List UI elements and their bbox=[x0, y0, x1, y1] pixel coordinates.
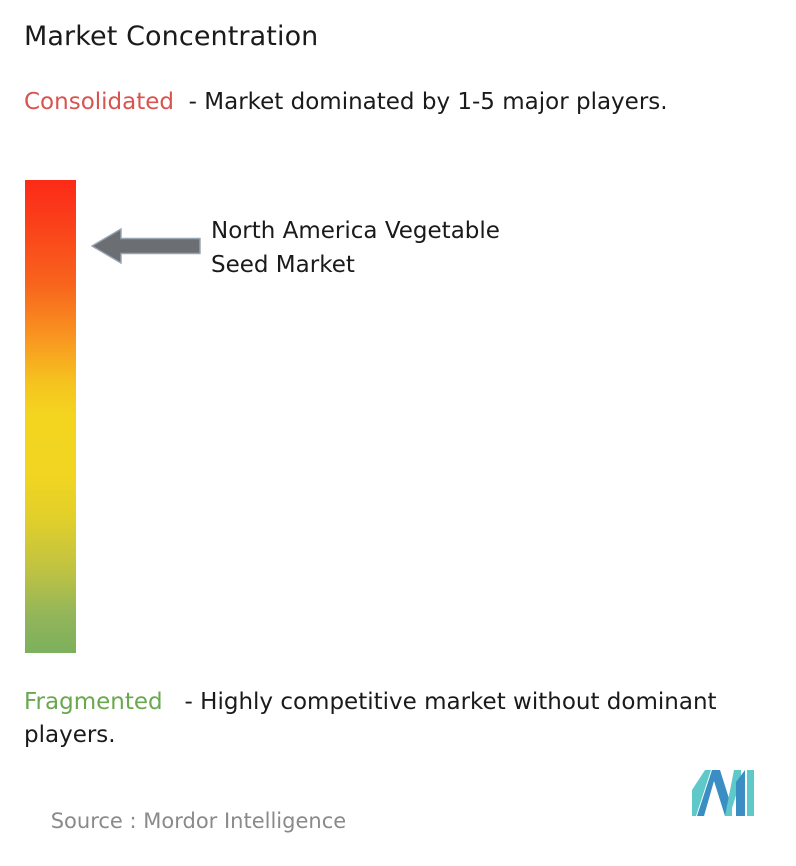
legend-separator-top: - bbox=[174, 89, 204, 115]
callout-arrow-icon bbox=[91, 226, 201, 266]
legend-term-fragmented: Fragmented bbox=[24, 689, 163, 715]
legend-separator-bottom: - bbox=[163, 689, 201, 715]
callout-label-line-1: North America Vegetable bbox=[211, 214, 631, 248]
concentration-gradient-bar bbox=[25, 180, 76, 653]
mordor-intelligence-logo bbox=[692, 764, 758, 816]
source-value: Mordor Intelligence bbox=[143, 809, 346, 833]
source-label: Source : bbox=[51, 809, 144, 833]
callout-label: North America Vegetable Seed Market bbox=[211, 214, 631, 282]
market-concentration-chart: Market Concentration Consolidated - Mark… bbox=[0, 0, 796, 834]
legend-term-consolidated: Consolidated bbox=[24, 89, 174, 115]
legend-fragmented: Fragmented - Highly competitive market w… bbox=[24, 686, 784, 752]
source-attribution: Source : Mordor Intelligence bbox=[24, 776, 346, 866]
page-title: Market Concentration bbox=[24, 20, 318, 54]
callout-label-line-2: Seed Market bbox=[211, 248, 631, 282]
legend-consolidated: Consolidated - Market dominated by 1-5 m… bbox=[24, 86, 764, 119]
legend-description-consolidated: Market dominated by 1-5 major players. bbox=[204, 89, 667, 115]
